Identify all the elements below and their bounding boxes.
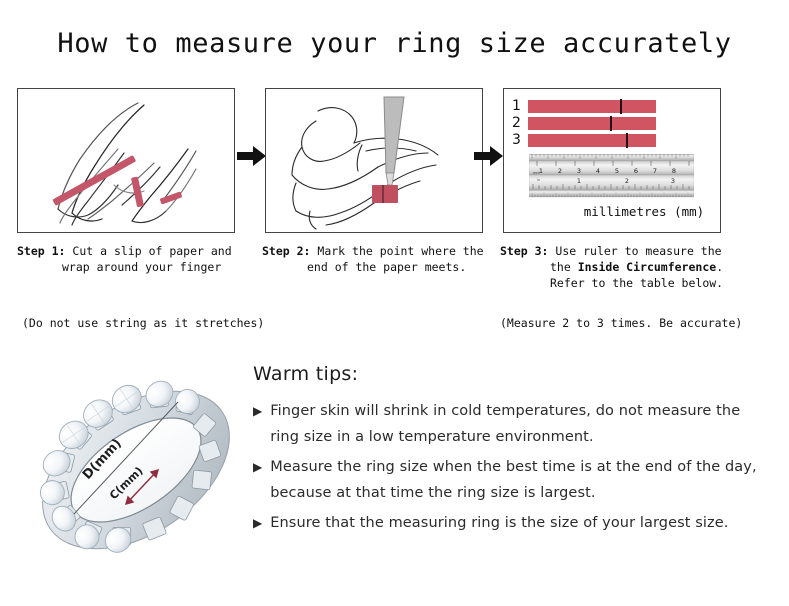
strip-bar-3 [528,134,656,147]
step-2-lead: Step 2: [262,244,310,258]
strip-row: 3 [512,133,712,147]
step-3-caption: Step 3: Use ruler to measure the the Ins… [500,243,740,291]
tip-item: ▶ Measure the ring size when the best ti… [253,454,773,506]
svg-text:3: 3 [671,177,675,185]
strip-mark-3 [626,133,628,148]
paper-strip-shape [372,185,398,203]
inside-circumference-emphasis: Inside Circumference [578,260,716,274]
strip-row: 2 [512,116,712,130]
tip-text-1: Finger skin will shrink in cold temperat… [270,398,773,450]
strip-mark-2 [610,116,612,131]
svg-text:mm: mm [533,171,540,175]
warm-tips-title: Warm tips: [253,363,773,385]
strip-number-2: 2 [512,116,528,130]
svg-text:5: 5 [615,167,619,175]
step-2-caption: Step 2: Mark the point where the end of … [262,243,492,275]
warm-tips-section: Warm tips: ▶ Finger skin will shrink in … [253,363,773,540]
step-3-lead: Step 3: [500,244,548,258]
step-3-line2: the Inside Circumference. [500,259,740,275]
step-2-line1: Mark the point where the [317,244,483,258]
step-3-line2-post: . [716,260,723,274]
svg-text:7: 7 [653,167,657,175]
arrow-step2-to-step3-icon [474,144,504,168]
svg-text:6: 6 [634,167,638,175]
svg-text:in: in [537,178,540,182]
svg-text:1: 1 [577,177,581,185]
steps-row: 1 2 3 [0,88,789,338]
pen-shape [384,97,404,185]
strip-bar-2 [528,117,656,130]
ruler-icon: 1 2 3 4 5 6 7 8 mm 1 2 3 in [529,154,694,200]
svg-text:3: 3 [577,167,581,175]
step-2-line2: end of the paper meets. [262,259,492,275]
tip-bullet-icon: ▶ [253,510,262,536]
strip-mark-1 [620,99,622,114]
svg-text:2: 2 [625,177,629,185]
tip-text-2: Measure the ring size when the best time… [270,454,773,506]
hand-marking-paper-icon [266,89,482,232]
measured-strips-group: 1 2 3 [512,99,712,150]
step-3-note: (Measure 2 to 3 times. Be accurate) [500,316,742,330]
step-3-illustration-panel: 1 2 3 [503,88,721,233]
hand-with-paper-strip-icon [18,89,234,232]
step-2-illustration-panel [265,88,483,233]
tip-text-3: Ensure that the measuring ring is the si… [270,510,728,536]
svg-text:2: 2 [558,167,562,175]
step-1-note: (Do not use string as it stretches) [22,316,264,330]
arrow-step1-to-step2-icon [237,144,267,168]
ring-diagram: D(mm) C(mm) [18,352,254,588]
diamond-eternity-ring-icon: D(mm) C(mm) [18,352,254,588]
step-1-line1: Cut a slip of paper and [72,244,231,258]
ruler-unit-caption: millimetres (mm) [564,204,721,219]
tip-bullet-icon: ▶ [253,398,262,424]
step-1-illustration-panel [17,88,235,233]
tip-item: ▶ Finger skin will shrink in cold temper… [253,398,773,450]
strip-number-1: 1 [512,99,528,113]
page-title: How to measure your ring size accurately [0,28,789,59]
step-1-lead: Step 1: [17,244,65,258]
svg-text:8: 8 [672,167,676,175]
tip-item: ▶ Ensure that the measuring ring is the … [253,510,773,536]
ring-size-guide-page: How to measure your ring size accurately [0,0,789,606]
svg-text:4: 4 [596,167,600,175]
step-1-line2: wrap around your finger [17,259,247,275]
step-1-caption: Step 1: Cut a slip of paper and wrap aro… [17,243,247,275]
tip-bullet-icon: ▶ [253,454,262,480]
step-3-line3: Refer to the table below. [500,275,740,291]
step-3-line1: Use ruler to measure the [555,244,721,258]
step-3-line2-pre: the [550,260,578,274]
strip-number-3: 3 [512,133,528,147]
strip-row: 1 [512,99,712,113]
strip-bar-1 [528,100,656,113]
